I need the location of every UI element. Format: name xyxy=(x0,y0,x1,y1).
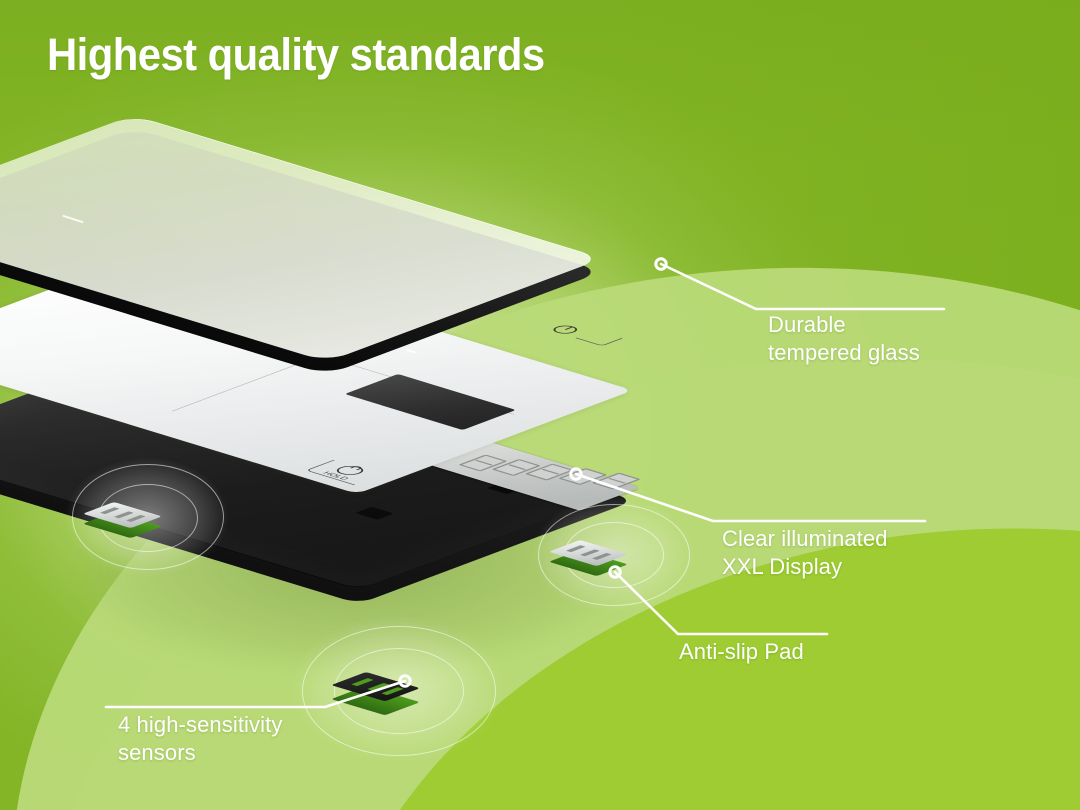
sensor-pad-right xyxy=(528,492,698,618)
infographic-canvas: Highest quality standards xyxy=(0,0,1080,810)
callout-label-clear-illuminated-xxl-display: Clear illuminated XXL Display xyxy=(722,525,888,581)
sensor-pad-notch xyxy=(351,678,374,686)
callout-label-durable-tempered-glass: Durable tempered glass xyxy=(768,311,920,367)
glass-highlight xyxy=(406,349,416,354)
callout-label-anti-slip-pad: Anti-slip Pad xyxy=(679,638,804,666)
sensor-pad-left xyxy=(62,452,232,582)
hold-button[interactable]: HOLD xyxy=(336,458,408,517)
sensor-pad-notch xyxy=(114,511,134,518)
sensor-pad-notch xyxy=(592,553,612,560)
sensor-pad-notch xyxy=(566,545,586,552)
sensor-pad-notch xyxy=(126,515,146,522)
sensor-pad-notch xyxy=(367,683,390,691)
sensor-pad-notch xyxy=(100,507,120,514)
sensor-pad-front xyxy=(288,608,508,768)
sensor-pad-notch xyxy=(381,687,404,695)
product-exploded-view: HOLD xyxy=(0,0,1080,810)
product-layer-glass xyxy=(38,150,718,410)
sensor-pad-notch xyxy=(580,549,600,556)
glass-top-surface xyxy=(0,115,603,362)
callout-label-four-high-sensitivity-sensors: 4 high-sensitivity sensors xyxy=(118,711,282,767)
hold-button-corner-line xyxy=(307,460,383,485)
